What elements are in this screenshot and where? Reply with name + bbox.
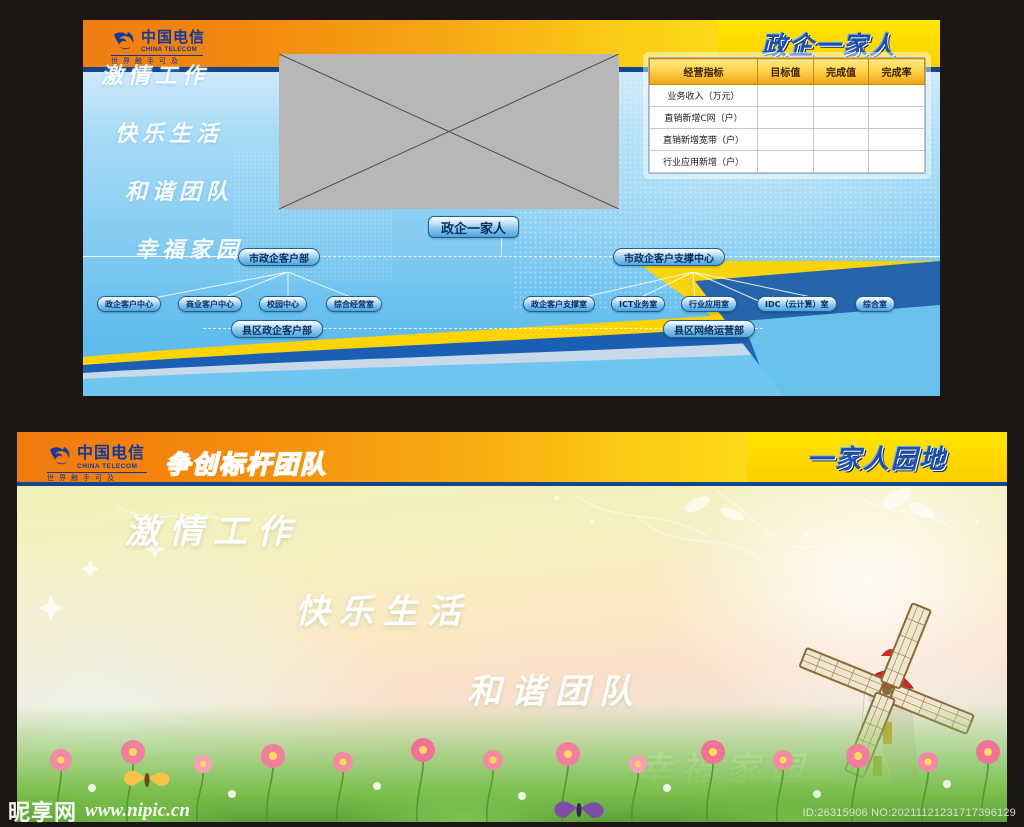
kpi-cell-rate[interactable]: [869, 151, 925, 173]
table-row: 直销新增C网（户）: [650, 107, 925, 129]
china-telecom-mark-icon: [47, 442, 73, 468]
org-node-ge-customer-center[interactable]: 政企客户中心: [97, 296, 161, 312]
panel1-slogan-2: 快乐生活: [115, 116, 297, 148]
org-connector: [283, 256, 903, 257]
kpi-col-rate: 完成率: [869, 59, 925, 85]
kpi-cell-rate[interactable]: [869, 85, 925, 107]
org-node-integrated-operations-office[interactable]: 综合经营室: [326, 296, 382, 312]
panel2-background: 激情工作 快乐生活 和谐团队 幸福家园: [17, 486, 1007, 822]
org-connector: [501, 238, 502, 256]
panel2-title: 一家人园地: [807, 439, 947, 476]
poster-canvas: 中国电信 CHINA TELECOM 世界触手可及 政企一家人 激情工作 快乐生…: [0, 0, 1024, 827]
kpi-table: 经营指标 目标值 完成值 完成率 业务收入（万元） 直销新增C网（户）: [649, 58, 925, 173]
panel1-slogan-1: 激情工作: [101, 58, 297, 90]
panel2-subtitle: 争创标杆团队: [165, 445, 327, 481]
org-node-business-customer-center[interactable]: 商业客户中心: [178, 296, 242, 312]
kpi-cell-actual[interactable]: [813, 151, 869, 173]
kpi-cell-target[interactable]: [758, 151, 814, 173]
table-row: 业务收入（万元）: [650, 85, 925, 107]
kpi-row-label: 直销新增C网（户）: [650, 107, 758, 129]
brand-name-en: CHINA TELECOM: [141, 47, 205, 53]
watermark-id-text: ID:26315906 NO:20211121231717396129: [803, 807, 1016, 819]
brand-slogan: 世界触手可及: [47, 473, 119, 483]
kpi-table-panel: 经营指标 目标值 完成值 完成率 业务收入（万元） 直销新增C网（户）: [648, 57, 926, 174]
kpi-header-row: 经营指标 目标值 完成值 完成率: [650, 59, 925, 85]
org-node-general-office[interactable]: 综合室: [855, 296, 895, 312]
china-telecom-logo: 中国电信 CHINA TELECOM 世界触手可及: [47, 439, 147, 483]
panel2-header-divider: [17, 482, 1007, 486]
panel2-slogan-1: 激情工作: [125, 504, 301, 553]
org-node-root[interactable]: 政企一家人: [428, 216, 519, 238]
placeholder-cross-icon: [279, 54, 619, 209]
org-node-industry-application-office[interactable]: 行业应用室: [681, 296, 737, 312]
kpi-cell-actual[interactable]: [813, 107, 869, 129]
org-node-ge-support-office[interactable]: 政企客户支撑室: [523, 296, 595, 312]
brand-name-cn: 中国电信: [77, 439, 145, 463]
china-telecom-mark-icon: [111, 27, 137, 53]
kpi-col-target: 目标值: [758, 59, 814, 85]
panel2-title-plate: 一家人园地: [747, 432, 1007, 482]
org-node-county-network-ops-dept[interactable]: 县区网络运营部: [663, 320, 755, 338]
panel-government-enterprise-family: 中国电信 CHINA TELECOM 世界触手可及 政企一家人 激情工作 快乐生…: [83, 20, 940, 396]
kpi-col-actual: 完成值: [813, 59, 869, 85]
watermark-site-cn: 昵享网: [8, 795, 77, 827]
org-node-county-ge-dept[interactable]: 县区政企客户部: [231, 320, 323, 338]
table-row: 行业应用新增（户）: [650, 151, 925, 173]
brand-name-en: CHINA TELECOM: [77, 463, 145, 470]
panel-one-family-garden: 激情工作 快乐生活 和谐团队 幸福家园: [17, 432, 1007, 822]
kpi-row-label: 行业应用新增（户）: [650, 151, 758, 173]
org-node-idc-cloud-office[interactable]: IDC（云计算）室: [757, 296, 837, 312]
butterfly-icon: [124, 771, 170, 787]
org-node-city-ge-support-center[interactable]: 市政企客户支撑中心: [613, 248, 725, 266]
panel1-slogan-3: 和谐团队: [125, 174, 297, 206]
org-node-city-ge-dept[interactable]: 市政企客户部: [238, 248, 320, 266]
org-node-ict-business-office[interactable]: ICT业务室: [611, 296, 665, 312]
table-row: 直销新增宽带（户）: [650, 129, 925, 151]
image-placeholder: [279, 54, 619, 209]
org-connector: [903, 256, 940, 257]
kpi-cell-target[interactable]: [758, 107, 814, 129]
brand-name-cn: 中国电信: [141, 26, 205, 47]
kpi-cell-actual[interactable]: [813, 85, 869, 107]
kpi-col-indicator: 经营指标: [650, 59, 758, 85]
kpi-row-label: 业务收入（万元）: [650, 85, 758, 107]
kpi-row-label: 直销新增宽带（户）: [650, 129, 758, 151]
kpi-cell-target[interactable]: [758, 129, 814, 151]
org-node-campus-center[interactable]: 校园中心: [259, 296, 307, 312]
kpi-cell-actual[interactable]: [813, 129, 869, 151]
kpi-cell-rate[interactable]: [869, 107, 925, 129]
panel2-slogan-2: 快乐生活: [295, 584, 471, 633]
kpi-cell-target[interactable]: [758, 85, 814, 107]
watermark-site-url: www.nipic.cn: [85, 800, 190, 822]
kpi-cell-rate[interactable]: [869, 129, 925, 151]
org-chart: 政企一家人 市政企客户部 市政企客户支撑中心 政企客户中心 商业客户中心 校园中…: [83, 216, 940, 344]
